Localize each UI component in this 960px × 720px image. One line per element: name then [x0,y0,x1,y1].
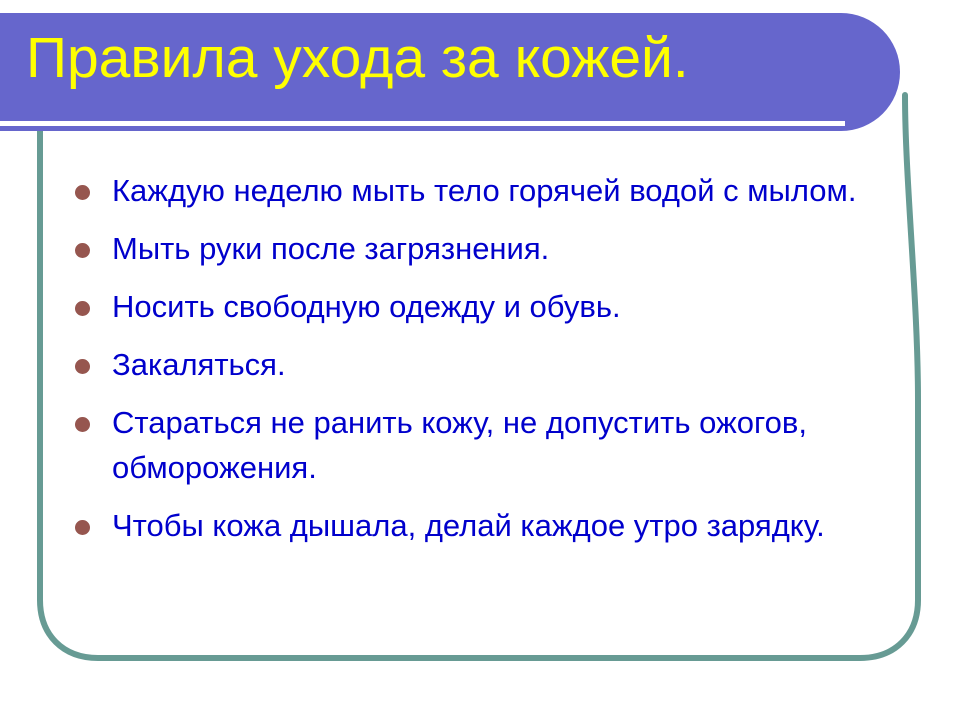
list-item: Закаляться. [64,342,874,387]
bullet-dot-icon [75,359,90,374]
page-title: Правила ухода за кожей. [26,25,866,91]
list-item-label: Каждую неделю мыть тело горячей водой с … [112,168,874,213]
title-underline-rule [0,121,845,126]
bullet-list: Каждую неделю мыть тело горячей водой с … [64,168,874,548]
list-item-label: Мыть руки после загрязнения. [112,226,874,271]
bullet-dot-icon [75,520,90,535]
list-item: Стараться не ранить кожу, не допустить о… [64,400,874,490]
bullet-dot-icon [75,417,90,432]
list-item: Каждую неделю мыть тело горячей водой с … [64,168,874,213]
bullet-dot-icon [75,301,90,316]
list-item-label: Чтобы кожа дышала, делай каждое утро зар… [112,503,874,548]
list-item-label: Закаляться. [112,342,874,387]
bullet-dot-icon [75,185,90,200]
list-item: Носить свободную одежду и обувь. [64,284,874,329]
presentation-slide: Правила ухода за кожей. Каждую неделю мы… [0,0,960,720]
list-item: Мыть руки после загрязнения. [64,226,874,271]
bullet-dot-icon [75,243,90,258]
list-item-label: Носить свободную одежду и обувь. [112,284,874,329]
list-item-label: Стараться не ранить кожу, не допустить о… [112,400,874,490]
list-item: Чтобы кожа дышала, делай каждое утро зар… [64,503,874,548]
